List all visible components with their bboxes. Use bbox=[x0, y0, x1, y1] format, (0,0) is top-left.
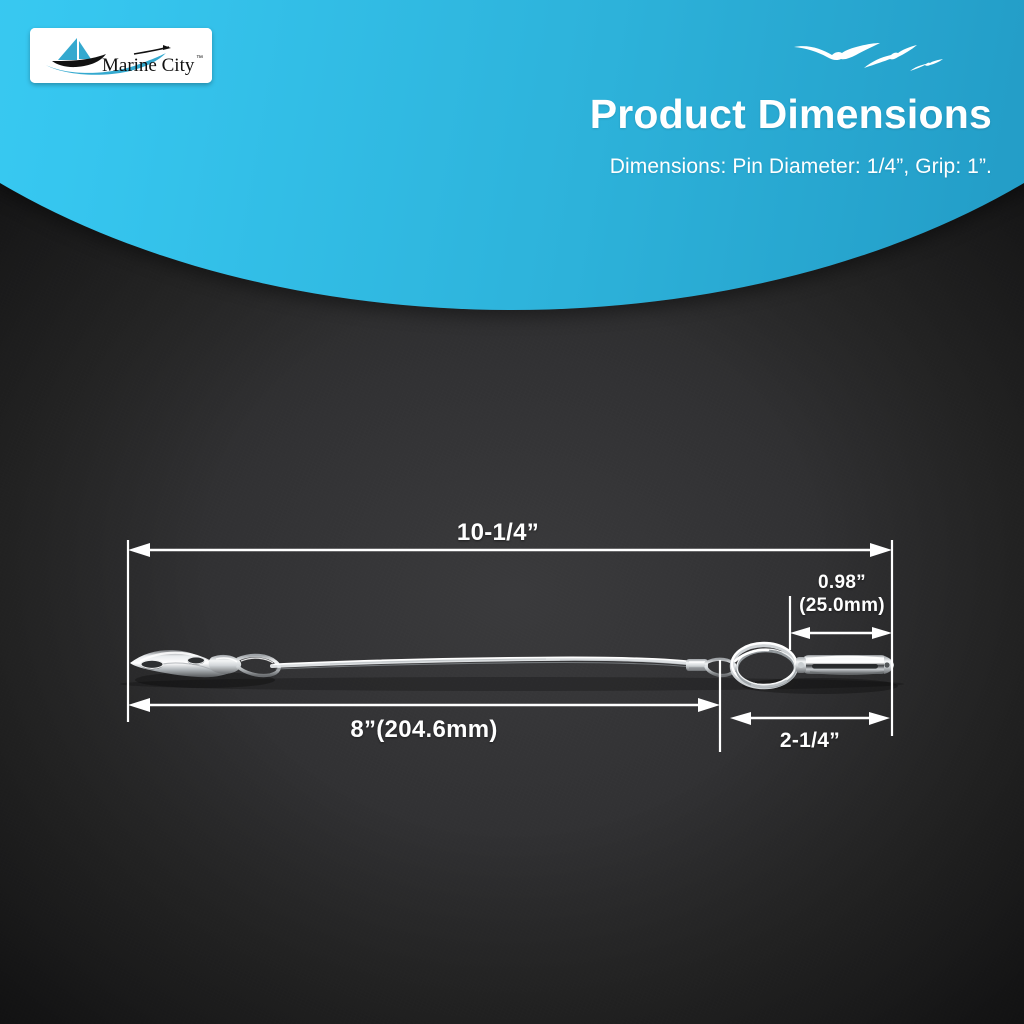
dimension-label-cable: 8”(204.6mm) bbox=[128, 716, 720, 744]
infographic-canvas: Marine City ™ Product Dimensions Dimensi… bbox=[0, 0, 1024, 1024]
dimension-arrow-pin bbox=[730, 712, 890, 725]
dimension-label-grip-inch: 0.98” bbox=[722, 571, 962, 594]
dimension-label-overall: 10-1/4” bbox=[0, 519, 1024, 547]
dimension-label-pin: 2-1/4” bbox=[730, 729, 890, 753]
dimension-arrow-cable bbox=[128, 698, 720, 712]
dimension-annotations: 10-1/4” 0.98” (25.0mm) 8”(204.6mm) 2-1/4… bbox=[0, 0, 1024, 1024]
dimension-label-grip: 0.98” (25.0mm) bbox=[722, 571, 962, 617]
dimension-label-grip-mm: (25.0mm) bbox=[722, 594, 962, 617]
dimension-arrow-grip bbox=[790, 627, 892, 639]
